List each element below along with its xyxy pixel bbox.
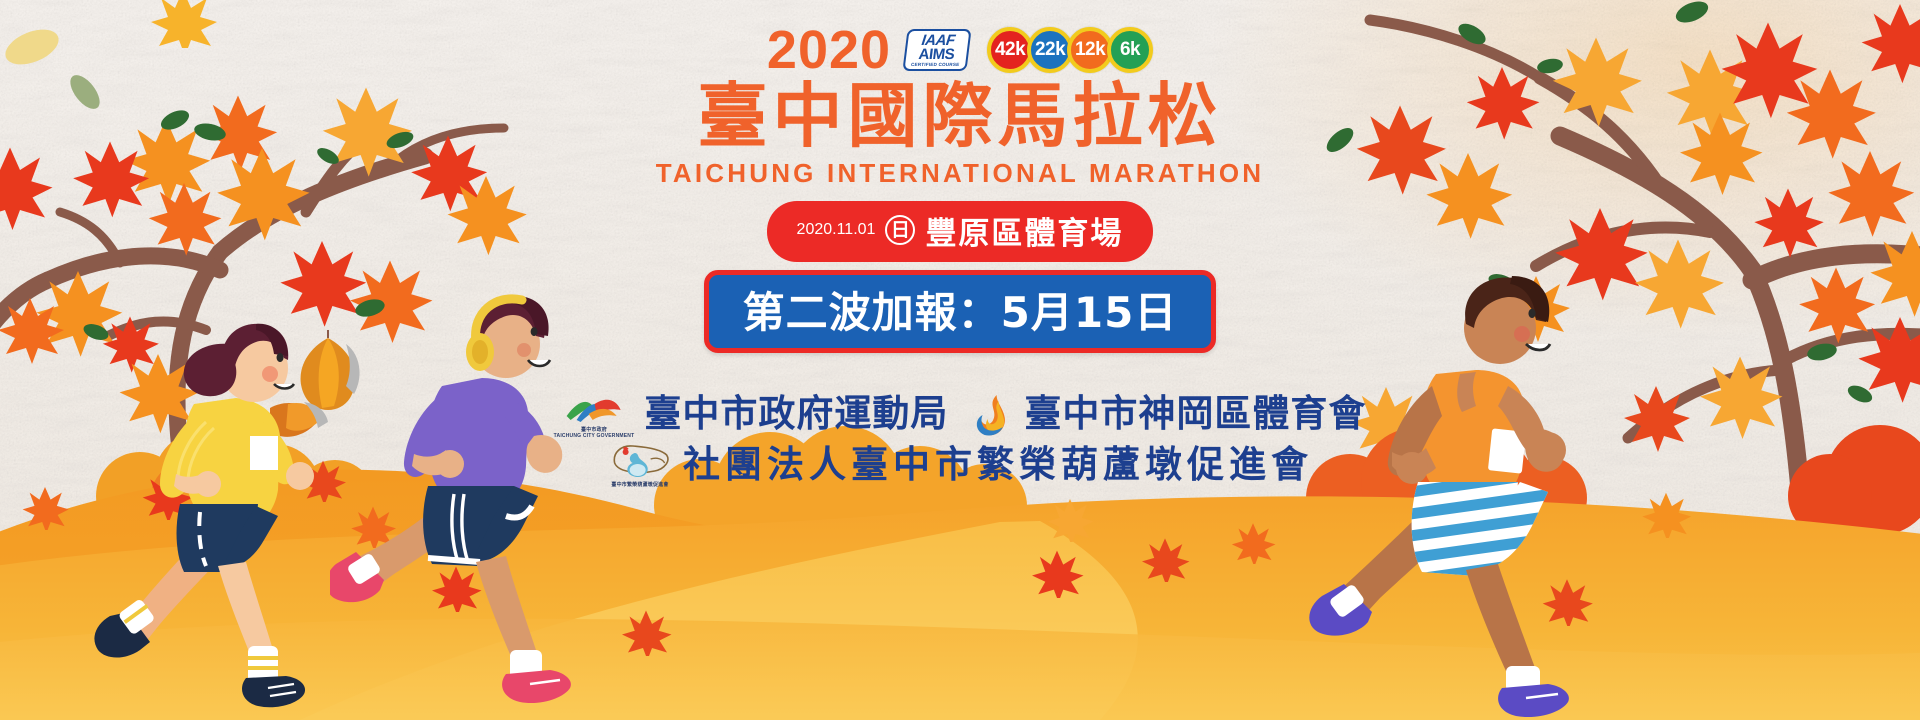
logo-caption-en: TAICHUNG CITY GOVERNMENT xyxy=(554,433,635,439)
sponsor-name-sports-bureau: 臺中市政府運動局 xyxy=(644,394,948,435)
distance-badge-group: 42k22k12k6k xyxy=(987,27,1153,73)
event-venue: 豐原區體育場 xyxy=(925,208,1123,253)
logo-caption-gourd: 臺中市繁榮葫蘆墩促進會 xyxy=(611,481,668,488)
iaaf-aims-certification-icon: IAAF AIMS CERTIFIED COURSE xyxy=(902,29,971,71)
sponsor-name-shengang-sports: 臺中市神岡區體育會 xyxy=(1024,394,1366,435)
sponsor-name-huludun-association: 社團法人臺中市繁榮葫蘆墩促進會 xyxy=(683,445,1313,486)
flame-torch-logo xyxy=(972,393,1014,437)
page-subtitle: TAICHUNG INTERNATIONAL MARATHON xyxy=(656,158,1265,189)
certified-course-label: CERTIFIED COURSE xyxy=(911,63,960,67)
ground-landscape xyxy=(0,300,1920,720)
falling-leaf-green xyxy=(62,72,108,112)
gourd-logo: 臺中市繁榮葫蘆墩促進會 xyxy=(607,443,673,488)
page-title: 臺中國際馬拉松 xyxy=(698,80,1223,154)
event-date: 2020.11.01 xyxy=(797,221,876,239)
aims-label: AIMS xyxy=(918,48,955,62)
taichung-city-government-logo: 臺中市政府 TAICHUNG CITY GOVERNMENT xyxy=(554,390,635,439)
registration-notice-banner[interactable]: 第二波加報：5月15日 xyxy=(704,270,1217,353)
sponsor-section: 臺中市政府 TAICHUNG CITY GOVERNMENT 臺中市政府運動局 … xyxy=(554,390,1367,488)
event-year: 2020 xyxy=(767,23,891,77)
weekday-icon: 日 xyxy=(885,215,915,245)
sponsor-row-1: 臺中市政府 TAICHUNG CITY GOVERNMENT 臺中市政府運動局 … xyxy=(554,390,1367,439)
date-venue-badge: 2020.11.01 日 豐原區體育場 xyxy=(767,201,1154,262)
marathon-banner: 2020 IAAF AIMS CERTIFIED COURSE 42k22k12… xyxy=(0,0,1920,720)
title-top-row: 2020 IAAF AIMS CERTIFIED COURSE 42k22k12… xyxy=(767,22,1153,78)
distance-badge-6k[interactable]: 6k xyxy=(1107,27,1153,73)
sponsor-row-2: 臺中市繁榮葫蘆墩促進會 社團法人臺中市繁榮葫蘆墩促進會 xyxy=(607,443,1313,488)
falling-leaf-yellow xyxy=(2,22,62,72)
event-header: 2020 IAAF AIMS CERTIFIED COURSE 42k22k12… xyxy=(590,22,1330,353)
logo-caption-cjk: 臺中市政府 xyxy=(581,426,607,433)
falling-leaf-orange-top xyxy=(148,0,218,48)
